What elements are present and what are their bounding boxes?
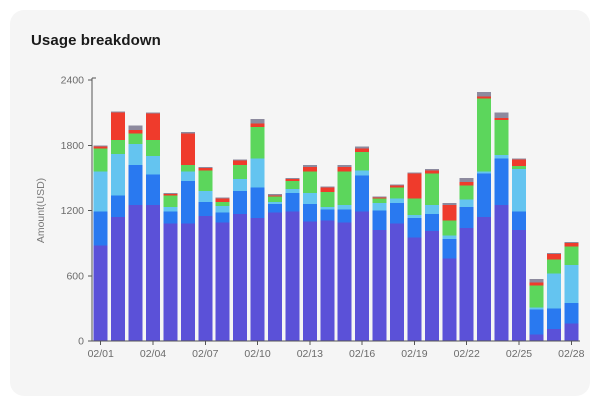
bar-segment[interactable] xyxy=(146,140,160,156)
bar-stack[interactable] xyxy=(320,187,334,341)
bar-segment[interactable] xyxy=(285,179,299,181)
bar-stack[interactable] xyxy=(303,165,317,341)
y-tick-label: 600 xyxy=(66,270,84,282)
bar-segment[interactable] xyxy=(425,231,439,341)
bar-segment[interactable] xyxy=(373,230,387,341)
x-tick-label: 02/13 xyxy=(297,348,323,360)
bar-segment[interactable] xyxy=(355,149,369,152)
bar-segment[interactable] xyxy=(495,120,509,155)
bar-segment[interactable] xyxy=(355,170,369,175)
bar-segment[interactable] xyxy=(233,191,247,214)
bar-segment[interactable] xyxy=(320,209,334,220)
bar-stack[interactable] xyxy=(285,178,299,341)
bar-segment[interactable] xyxy=(216,199,230,202)
bar-segment[interactable] xyxy=(146,113,160,114)
bar-segment[interactable] xyxy=(94,145,108,146)
bar-stack[interactable] xyxy=(338,165,352,341)
bar-segment[interactable] xyxy=(303,221,317,341)
bar-segment[interactable] xyxy=(111,154,125,195)
bar-stack[interactable] xyxy=(181,132,195,341)
bar-segment[interactable] xyxy=(94,146,108,148)
bar-segment[interactable] xyxy=(285,189,299,193)
bar-segment[interactable] xyxy=(198,216,212,341)
bar-segment[interactable] xyxy=(477,174,491,218)
bar-segment[interactable] xyxy=(495,118,509,120)
bar-segment[interactable] xyxy=(129,130,143,133)
bar-segment[interactable] xyxy=(390,199,404,203)
bar-segment[interactable] xyxy=(338,167,352,171)
bar-segment[interactable] xyxy=(512,166,526,169)
bar-segment[interactable] xyxy=(303,193,317,204)
bar-segment[interactable] xyxy=(251,127,265,159)
bar-segment[interactable] xyxy=(198,170,212,191)
bar-segment[interactable] xyxy=(146,114,160,140)
bar-segment[interactable] xyxy=(163,193,177,194)
bar-segment[interactable] xyxy=(355,152,369,170)
y-tick-label: 2400 xyxy=(61,75,85,87)
bar-stack[interactable] xyxy=(146,113,160,341)
bar-segment[interactable] xyxy=(390,185,404,187)
bar-segment[interactable] xyxy=(251,124,265,127)
bar-stack[interactable] xyxy=(547,253,561,341)
bar-segment[interactable] xyxy=(477,217,491,341)
bar-segment[interactable] xyxy=(512,169,526,211)
bar-stack[interactable] xyxy=(460,178,474,341)
x-tick-label: 02/16 xyxy=(349,348,375,360)
bar-stack[interactable] xyxy=(564,242,578,341)
bar-segment[interactable] xyxy=(442,205,456,220)
bar-segment[interactable] xyxy=(460,207,474,228)
bar-stack[interactable] xyxy=(512,158,526,341)
bar-segment[interactable] xyxy=(460,178,474,182)
bar-segment[interactable] xyxy=(460,228,474,341)
bar-segment[interactable] xyxy=(338,205,352,209)
bar-segment[interactable] xyxy=(94,171,108,211)
bar-segment[interactable] xyxy=(547,308,561,329)
bar-segment[interactable] xyxy=(425,170,439,173)
bar-segment[interactable] xyxy=(251,188,265,218)
bar-segment[interactable] xyxy=(303,204,317,221)
y-tick-label: 0 xyxy=(78,336,84,348)
bar-segment[interactable] xyxy=(547,329,561,341)
bar-stack[interactable] xyxy=(373,196,387,341)
bar-segment[interactable] xyxy=(216,222,230,341)
bar-segment[interactable] xyxy=(407,199,421,215)
bar-segment[interactable] xyxy=(512,230,526,341)
bar-segment[interactable] xyxy=(512,212,526,230)
bar-segment[interactable] xyxy=(390,224,404,341)
bar-segment[interactable] xyxy=(425,214,439,231)
bar-stack[interactable] xyxy=(355,146,369,341)
bar-segment[interactable] xyxy=(477,171,491,173)
bar-segment[interactable] xyxy=(529,307,543,309)
bar-segment[interactable] xyxy=(129,205,143,341)
bar-stack[interactable] xyxy=(251,119,265,341)
bar-segment[interactable] xyxy=(268,194,282,195)
bar-segment[interactable] xyxy=(338,171,352,205)
bars-group xyxy=(94,92,579,341)
bar-segment[interactable] xyxy=(564,324,578,341)
bar-segment[interactable] xyxy=(320,220,334,341)
bar-segment[interactable] xyxy=(495,158,509,205)
bar-stack[interactable] xyxy=(94,145,108,341)
bar-segment[interactable] xyxy=(373,199,387,203)
bar-segment[interactable] xyxy=(390,203,404,224)
bar-segment[interactable] xyxy=(303,165,317,167)
bar-segment[interactable] xyxy=(163,224,177,341)
x-tick-label: 02/01 xyxy=(88,348,114,360)
bar-segment[interactable] xyxy=(425,174,439,206)
bar-segment[interactable] xyxy=(338,222,352,341)
bar-segment[interactable] xyxy=(233,160,247,164)
bar-segment[interactable] xyxy=(390,184,404,185)
bar-segment[interactable] xyxy=(216,206,230,213)
bar-segment[interactable] xyxy=(529,334,543,341)
bar-segment[interactable] xyxy=(233,165,247,179)
bar-segment[interactable] xyxy=(251,158,265,187)
bar-segment[interactable] xyxy=(198,167,212,168)
bar-segment[interactable] xyxy=(442,203,456,205)
bar-segment[interactable] xyxy=(407,218,421,238)
bar-segment[interactable] xyxy=(495,113,509,118)
bar-segment[interactable] xyxy=(181,181,195,223)
bar-segment[interactable] xyxy=(285,212,299,341)
bar-segment[interactable] xyxy=(564,242,578,243)
bar-segment[interactable] xyxy=(198,202,212,216)
bar-segment[interactable] xyxy=(94,245,108,341)
bar-segment[interactable] xyxy=(251,218,265,341)
x-tick-label: 02/19 xyxy=(401,348,427,360)
bar-segment[interactable] xyxy=(477,98,491,171)
bar-segment[interactable] xyxy=(564,265,578,303)
bar-segment[interactable] xyxy=(320,187,334,188)
bar-stack[interactable] xyxy=(442,203,456,341)
bar-segment[interactable] xyxy=(198,168,212,170)
bar-segment[interactable] xyxy=(268,202,282,204)
bar-segment[interactable] xyxy=(111,195,125,217)
bar-segment[interactable] xyxy=(129,133,143,144)
x-tick-label: 02/25 xyxy=(506,348,532,360)
bar-segment[interactable] xyxy=(407,215,421,218)
bar-segment[interactable] xyxy=(268,195,282,196)
bar-segment[interactable] xyxy=(564,303,578,324)
bar-segment[interactable] xyxy=(146,175,160,205)
bar-segment[interactable] xyxy=(129,165,143,205)
bar-segment[interactable] xyxy=(216,197,230,198)
bar-segment[interactable] xyxy=(407,174,421,199)
bar-segment[interactable] xyxy=(529,282,543,285)
bar-segment[interactable] xyxy=(338,209,352,222)
bar-segment[interactable] xyxy=(373,196,387,197)
bar-segment[interactable] xyxy=(407,238,421,341)
bar-segment[interactable] xyxy=(547,259,561,273)
bar-segment[interactable] xyxy=(407,172,421,173)
bar-segment[interactable] xyxy=(512,158,526,159)
bar-segment[interactable] xyxy=(181,224,195,341)
y-tick-label: 1200 xyxy=(61,205,85,217)
bar-stack[interactable] xyxy=(407,172,421,341)
bar-segment[interactable] xyxy=(320,207,334,209)
bar-stack[interactable] xyxy=(268,194,282,341)
bar-segment[interactable] xyxy=(233,159,247,160)
bar-stack[interactable] xyxy=(529,279,543,341)
bar-segment[interactable] xyxy=(547,253,561,254)
bar-stack[interactable] xyxy=(216,197,230,341)
bar-stack[interactable] xyxy=(425,169,439,341)
bar-segment[interactable] xyxy=(529,309,543,334)
bar-stack[interactable] xyxy=(477,92,491,341)
bar-segment[interactable] xyxy=(320,192,334,207)
bar-segment[interactable] xyxy=(111,140,125,154)
bar-segment[interactable] xyxy=(529,286,543,308)
bar-segment[interactable] xyxy=(425,205,439,214)
bar-segment[interactable] xyxy=(303,167,317,171)
bar-segment[interactable] xyxy=(94,212,108,246)
bar-segment[interactable] xyxy=(111,113,125,140)
bar-segment[interactable] xyxy=(564,246,578,264)
bar-stack[interactable] xyxy=(390,184,404,341)
bar-stack[interactable] xyxy=(198,167,212,341)
bar-segment[interactable] xyxy=(198,191,212,202)
bar-segment[interactable] xyxy=(529,279,543,282)
bar-segment[interactable] xyxy=(94,149,108,172)
bar-segment[interactable] xyxy=(111,217,125,341)
bar-segment[interactable] xyxy=(442,220,456,235)
bar-stack[interactable] xyxy=(129,126,143,341)
bar-segment[interactable] xyxy=(442,239,456,259)
bar-segment[interactable] xyxy=(233,214,247,341)
bar-segment[interactable] xyxy=(233,179,247,191)
bar-segment[interactable] xyxy=(146,156,160,174)
bar-segment[interactable] xyxy=(547,254,561,259)
bar-segment[interactable] xyxy=(129,126,143,130)
bar-segment[interactable] xyxy=(460,200,474,208)
bar-segment[interactable] xyxy=(460,185,474,199)
x-tick-label: 02/04 xyxy=(140,348,166,360)
bar-segment[interactable] xyxy=(251,119,265,123)
bar-segment[interactable] xyxy=(547,274,561,309)
bar-segment[interactable] xyxy=(442,236,456,239)
y-tick-label: 1800 xyxy=(61,140,85,152)
bar-segment[interactable] xyxy=(355,212,369,341)
bar-segment[interactable] xyxy=(477,92,491,96)
bar-segment[interactable] xyxy=(460,182,474,185)
bar-segment[interactable] xyxy=(111,112,125,113)
x-tick-label: 02/28 xyxy=(558,348,584,360)
bar-segment[interactable] xyxy=(320,188,334,192)
bar-chart: 060012001800240002/0102/0402/0702/1002/1… xyxy=(10,10,590,396)
bar-segment[interactable] xyxy=(163,195,177,207)
bar-segment[interactable] xyxy=(285,181,299,189)
bar-segment[interactable] xyxy=(425,169,439,170)
bar-segment[interactable] xyxy=(181,171,195,181)
bar-segment[interactable] xyxy=(181,133,195,165)
bar-segment[interactable] xyxy=(338,165,352,167)
bar-stack[interactable] xyxy=(233,159,247,341)
bar-segment[interactable] xyxy=(268,204,282,213)
bar-segment[interactable] xyxy=(216,213,230,223)
bar-segment[interactable] xyxy=(285,193,299,211)
bar-segment[interactable] xyxy=(355,176,369,212)
bar-segment[interactable] xyxy=(477,96,491,98)
bar-segment[interactable] xyxy=(268,196,282,201)
bar-stack[interactable] xyxy=(495,113,509,341)
bar-segment[interactable] xyxy=(163,194,177,195)
bar-segment[interactable] xyxy=(146,205,160,341)
bar-segment[interactable] xyxy=(373,197,387,198)
bar-segment[interactable] xyxy=(216,202,230,206)
x-tick-label: 02/22 xyxy=(454,348,480,360)
bar-segment[interactable] xyxy=(163,212,177,224)
bar-segment[interactable] xyxy=(285,178,299,179)
bar-segment[interactable] xyxy=(181,132,195,133)
bar-segment[interactable] xyxy=(390,188,404,199)
chart-card: Usage breakdown 060012001800240002/0102/… xyxy=(10,10,590,396)
x-tick-label: 02/10 xyxy=(244,348,270,360)
chart-svg: 060012001800240002/0102/0402/0702/1002/1… xyxy=(10,10,590,396)
bar-segment[interactable] xyxy=(564,243,578,246)
bar-segment[interactable] xyxy=(495,155,509,158)
bar-segment[interactable] xyxy=(129,144,143,165)
bar-segment[interactable] xyxy=(181,165,195,172)
y-axis-title: Amount(USD) xyxy=(35,178,47,243)
bar-segment[interactable] xyxy=(355,146,369,148)
x-tick-label: 02/07 xyxy=(192,348,218,360)
bar-segment[interactable] xyxy=(303,171,317,193)
bar-segment[interactable] xyxy=(268,213,282,341)
bar-stack[interactable] xyxy=(163,193,177,341)
bar-segment[interactable] xyxy=(163,207,177,211)
bar-segment[interactable] xyxy=(373,211,387,231)
bar-segment[interactable] xyxy=(512,159,526,166)
bar-stack[interactable] xyxy=(111,112,125,341)
bar-segment[interactable] xyxy=(442,258,456,341)
bar-segment[interactable] xyxy=(495,205,509,341)
bar-segment[interactable] xyxy=(373,203,387,211)
